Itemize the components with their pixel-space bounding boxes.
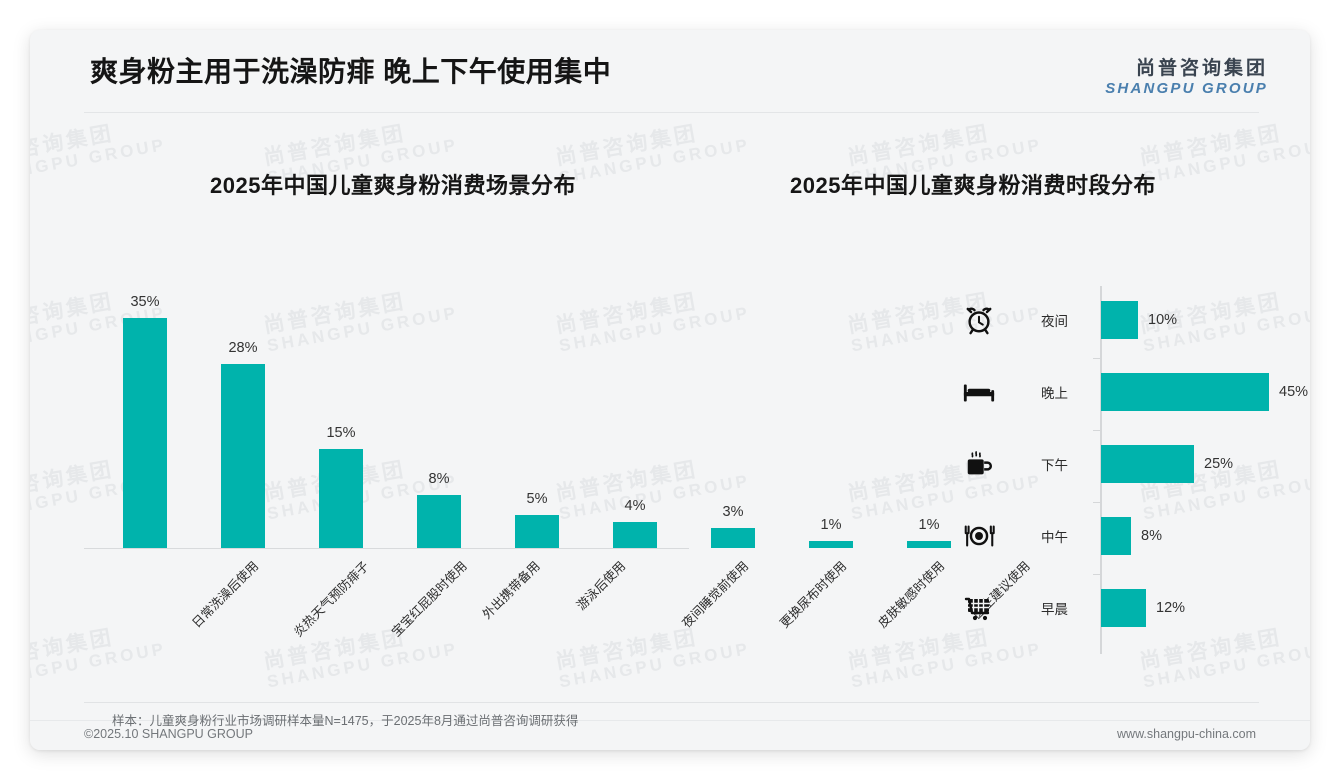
alarm-clock-icon (959, 303, 999, 337)
timeslot-row: 下午25% (945, 430, 1295, 498)
vertical-bar[interactable] (319, 449, 363, 548)
timeslot-bar-chart: 夜间10%晚上45%下午25%中午8%早晨12% (945, 280, 1295, 660)
axis-tick (1093, 358, 1100, 359)
timeslot-row: 晚上45% (945, 358, 1295, 426)
category-label: 游泳后使用 (571, 556, 629, 614)
watermark-text: 尚普咨询集团SHANGPU GROUP (554, 114, 752, 187)
logo-chinese-text: 尚普咨询集团 (1105, 58, 1268, 80)
bar-value-label: 28% (210, 340, 276, 356)
scenario-chart-baseline (84, 548, 689, 549)
header-divider (84, 112, 1259, 113)
vertical-bar[interactable] (809, 541, 853, 548)
horizontal-bar[interactable] (1101, 373, 1269, 411)
bar-value-label: 3% (700, 504, 766, 520)
category-label: 日常洗澡后使用 (187, 556, 262, 631)
timeslot-label: 夜间 (1041, 310, 1068, 330)
horizontal-bar[interactable] (1101, 301, 1138, 339)
bar-value-label: 25% (1204, 456, 1233, 472)
watermark-text: 尚普咨询集团SHANGPU GROUP (1138, 114, 1310, 187)
coffee-mug-icon (959, 447, 999, 481)
category-label: 外出携带备用 (477, 556, 543, 622)
bar-slot (406, 260, 472, 548)
bar-value-label: 1% (798, 517, 864, 533)
bar-value-label: 5% (504, 491, 570, 507)
plate-utensils-icon (959, 519, 999, 553)
bar-value-label: 8% (406, 471, 472, 487)
timeslot-row: 中午8% (945, 502, 1295, 570)
bar-value-label: 8% (1141, 528, 1162, 544)
bar-slot (308, 260, 374, 548)
category-label: 夜间睡觉前使用 (677, 556, 752, 631)
logo-english-text: SHANGPU GROUP (1105, 80, 1268, 97)
vertical-bar[interactable] (123, 318, 167, 548)
horizontal-bar[interactable] (1101, 589, 1146, 627)
vertical-bar[interactable] (711, 528, 755, 548)
bar-value-label: 10% (1148, 312, 1177, 328)
axis-tick (1093, 430, 1100, 431)
watermark-text: 尚普咨询集团SHANGPU GROUP (30, 114, 168, 187)
vertical-bar[interactable] (417, 495, 461, 548)
vertical-bar[interactable] (613, 522, 657, 548)
category-label: 皮肤敏感时使用 (873, 556, 948, 631)
bar-value-label: 45% (1279, 384, 1308, 400)
slide-header: 爽身粉主用于洗澡防痱 晚上下午使用集中 尚普咨询集团 SHANGPU GROUP (30, 30, 1310, 112)
axis-tick (1093, 574, 1100, 575)
bed-icon (959, 375, 999, 409)
timeslot-label: 晚上 (1041, 382, 1068, 402)
shopping-cart-icon (959, 591, 999, 625)
left-chart-title: 2025年中国儿童爽身粉消费场景分布 (210, 168, 576, 200)
bar-value-label: 12% (1156, 600, 1185, 616)
bar-slot (798, 260, 864, 548)
horizontal-bar[interactable] (1101, 517, 1131, 555)
timeslot-label: 早晨 (1041, 598, 1068, 618)
vertical-bar[interactable] (221, 364, 265, 548)
bar-slot (210, 260, 276, 548)
timeslot-row: 夜间10% (945, 286, 1295, 354)
category-label: 宝宝红屁股时使用 (386, 556, 470, 640)
timeslot-row: 早晨12% (945, 574, 1295, 642)
copyright-text: ©2025.10 SHANGPU GROUP (84, 727, 253, 741)
page-title: 爽身粉主用于洗澡防痱 晚上下午使用集中 (90, 50, 611, 90)
category-label: 更换尿布时使用 (775, 556, 850, 631)
scenario-bar-chart: 35%28%15%8%5%4%3%1%1% 日常洗澡后使用炎热天气预防痱子宝宝红… (84, 260, 684, 670)
scenario-chart-plot-area: 35%28%15%8%5%4%3%1%1% (84, 260, 684, 548)
category-label: 炎热天气预防痱子 (288, 556, 372, 640)
bar-value-label: 4% (602, 498, 668, 514)
right-chart-title: 2025年中国儿童爽身粉消费时段分布 (790, 168, 1156, 200)
horizontal-bar[interactable] (1101, 445, 1194, 483)
slide-card: 尚普咨询集团SHANGPU GROUP尚普咨询集团SHANGPU GROUP尚普… (30, 30, 1310, 750)
website-url[interactable]: www.shangpu-china.com (1117, 727, 1256, 741)
bar-value-label: 35% (112, 294, 178, 310)
vertical-bar[interactable] (515, 515, 559, 548)
axis-tick (1093, 502, 1100, 503)
timeslot-label: 下午 (1041, 454, 1068, 474)
timeslot-label: 中午 (1041, 526, 1068, 546)
brand-logo: 尚普咨询集团 SHANGPU GROUP (1105, 58, 1268, 97)
bar-value-label: 15% (308, 425, 374, 441)
footnote-divider (84, 702, 1259, 703)
